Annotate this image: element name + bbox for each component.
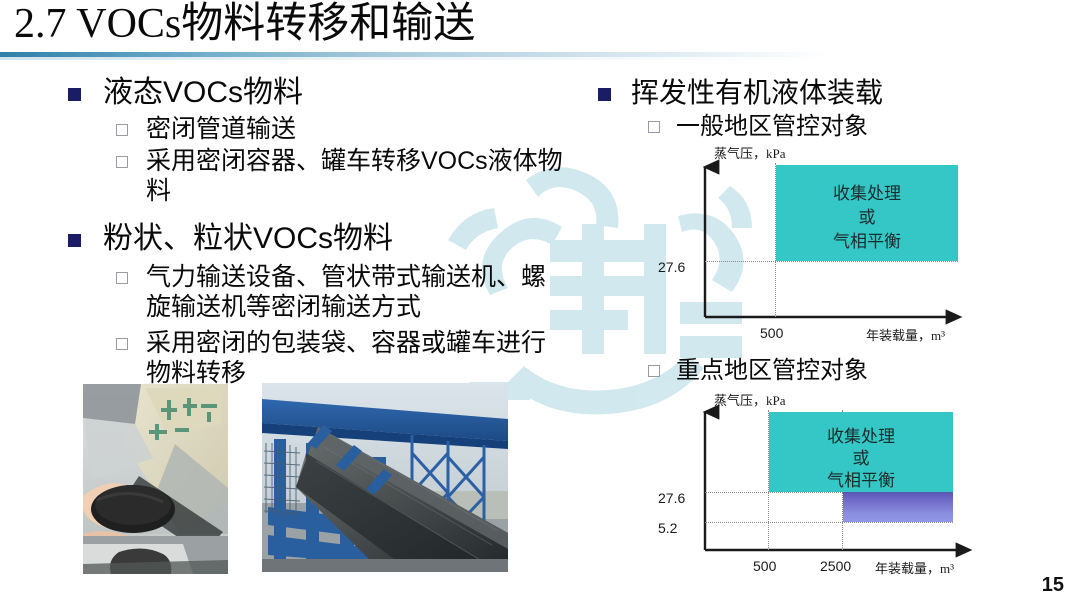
chart2-xtick-2500: 2500 [820,558,851,574]
slide-title: 2.7 VOCs物料转移和输送 [14,0,475,50]
chart2-ytick-27-6: 27.6 [658,490,685,506]
bullet-level1-liquid-vocs: 液态VOCs物料 [68,74,588,112]
region-label-line-3: 气相平衡 [776,229,958,254]
bullet-level2-label: 采用密闭的包装袋、容器或罐车进行物料转移 [146,328,566,388]
chart1-gridline-y-27-6 [705,261,958,262]
bullet-level1-powder-vocs: 粉状、粒状VOCs物料 [68,220,588,258]
chart-general-area-control: 蒸气压，kPa 年装载量，m³ 收集处理 或 气相平衡 2 [650,145,980,345]
slide-canvas: 2.7 VOCs物料转移和输送 液态VOCs物料 密闭管道输送 采用密闭容器、罐… [0,0,1080,607]
bullet-level2-label: 采用密闭容器、罐车转移VOCs液体物料 [146,146,576,206]
square-bullet-icon [68,88,81,101]
square-bullet-icon [68,234,81,247]
bullet-level1-label: 挥发性有机液体装载 [631,76,883,110]
right-content-column: 挥发性有机液体装载 一般地区管控对象 [598,76,1018,143]
chart1-ytick-27-6: 27.6 [658,259,685,275]
square-bullet-icon [598,88,611,101]
chart1-collect-or-vapor-balance-region: 收集处理 或 气相平衡 [776,165,958,261]
hollow-square-bullet-icon [648,365,660,377]
right-column-section-2: 重点地区管控对象 [598,356,1018,387]
left-content-column: 液态VOCs物料 密闭管道输送 采用密闭容器、罐车转移VOCs液体物料 粉状、粒… [68,74,588,389]
hollow-square-bullet-icon [116,124,128,136]
hollow-square-bullet-icon [116,156,128,168]
hollow-square-bullet-icon [648,121,660,133]
bullet-level2-label: 重点地区管控对象 [676,356,868,386]
bullet-level2-pneumatic-conveying: 气力输送设备、管状带式输送机、螺旋输送机等密闭输送方式 [116,262,588,322]
hollow-square-bullet-icon [116,272,128,284]
title-underline-soft [0,57,830,60]
bullet-level2-key-area: 重点地区管控对象 [648,356,1018,386]
region-label-line-3: 气相平衡 [769,468,953,493]
page-number: 15 [1042,574,1064,597]
chart2-ytick-5-2: 5.2 [658,520,677,536]
hollow-square-bullet-icon [116,338,128,350]
bullet-level2-general-area: 一般地区管控对象 [648,112,1018,142]
chart2-xtick-500: 500 [753,558,776,574]
region-label-line-1: 收集处理 [776,181,958,206]
granular-material-in-bag-photo [83,384,228,574]
bullet-level2-closed-container: 采用密闭容器、罐车转移VOCs液体物料 [116,146,588,206]
bullet-level1-volatile-organic-loading: 挥发性有机液体装载 [598,76,1018,110]
bullet-level2-label: 密闭管道输送 [146,114,296,144]
region-label-line-2: 或 [776,205,958,230]
chart-key-area-control: 蒸气压，kPa 年装载量，m³ 收集处理 或 气相平衡 27.6 5 [650,392,980,592]
bullet-level2-sealed-bags: 采用密闭的包装袋、容器或罐车进行物料转移 [116,328,588,388]
bullet-level2-label: 一般地区管控对象 [676,112,868,142]
tubular-belt-conveyor-photo [262,383,508,572]
bullet-level1-label: 粉状、粒状VOCs物料 [103,220,393,258]
chart2-secondary-control-region [843,492,953,522]
chart1-xtick-500: 500 [760,325,783,341]
bullet-level2-label: 气力输送设备、管状带式输送机、螺旋输送机等密闭输送方式 [146,262,566,322]
bullet-level1-label: 液态VOCs物料 [103,74,303,112]
bullet-level2-closed-pipe: 密闭管道输送 [116,114,588,144]
chart2-collect-or-vapor-balance-region: 收集处理 或 气相平衡 [769,412,953,492]
chart2-gridline-y-5-2 [705,522,953,523]
